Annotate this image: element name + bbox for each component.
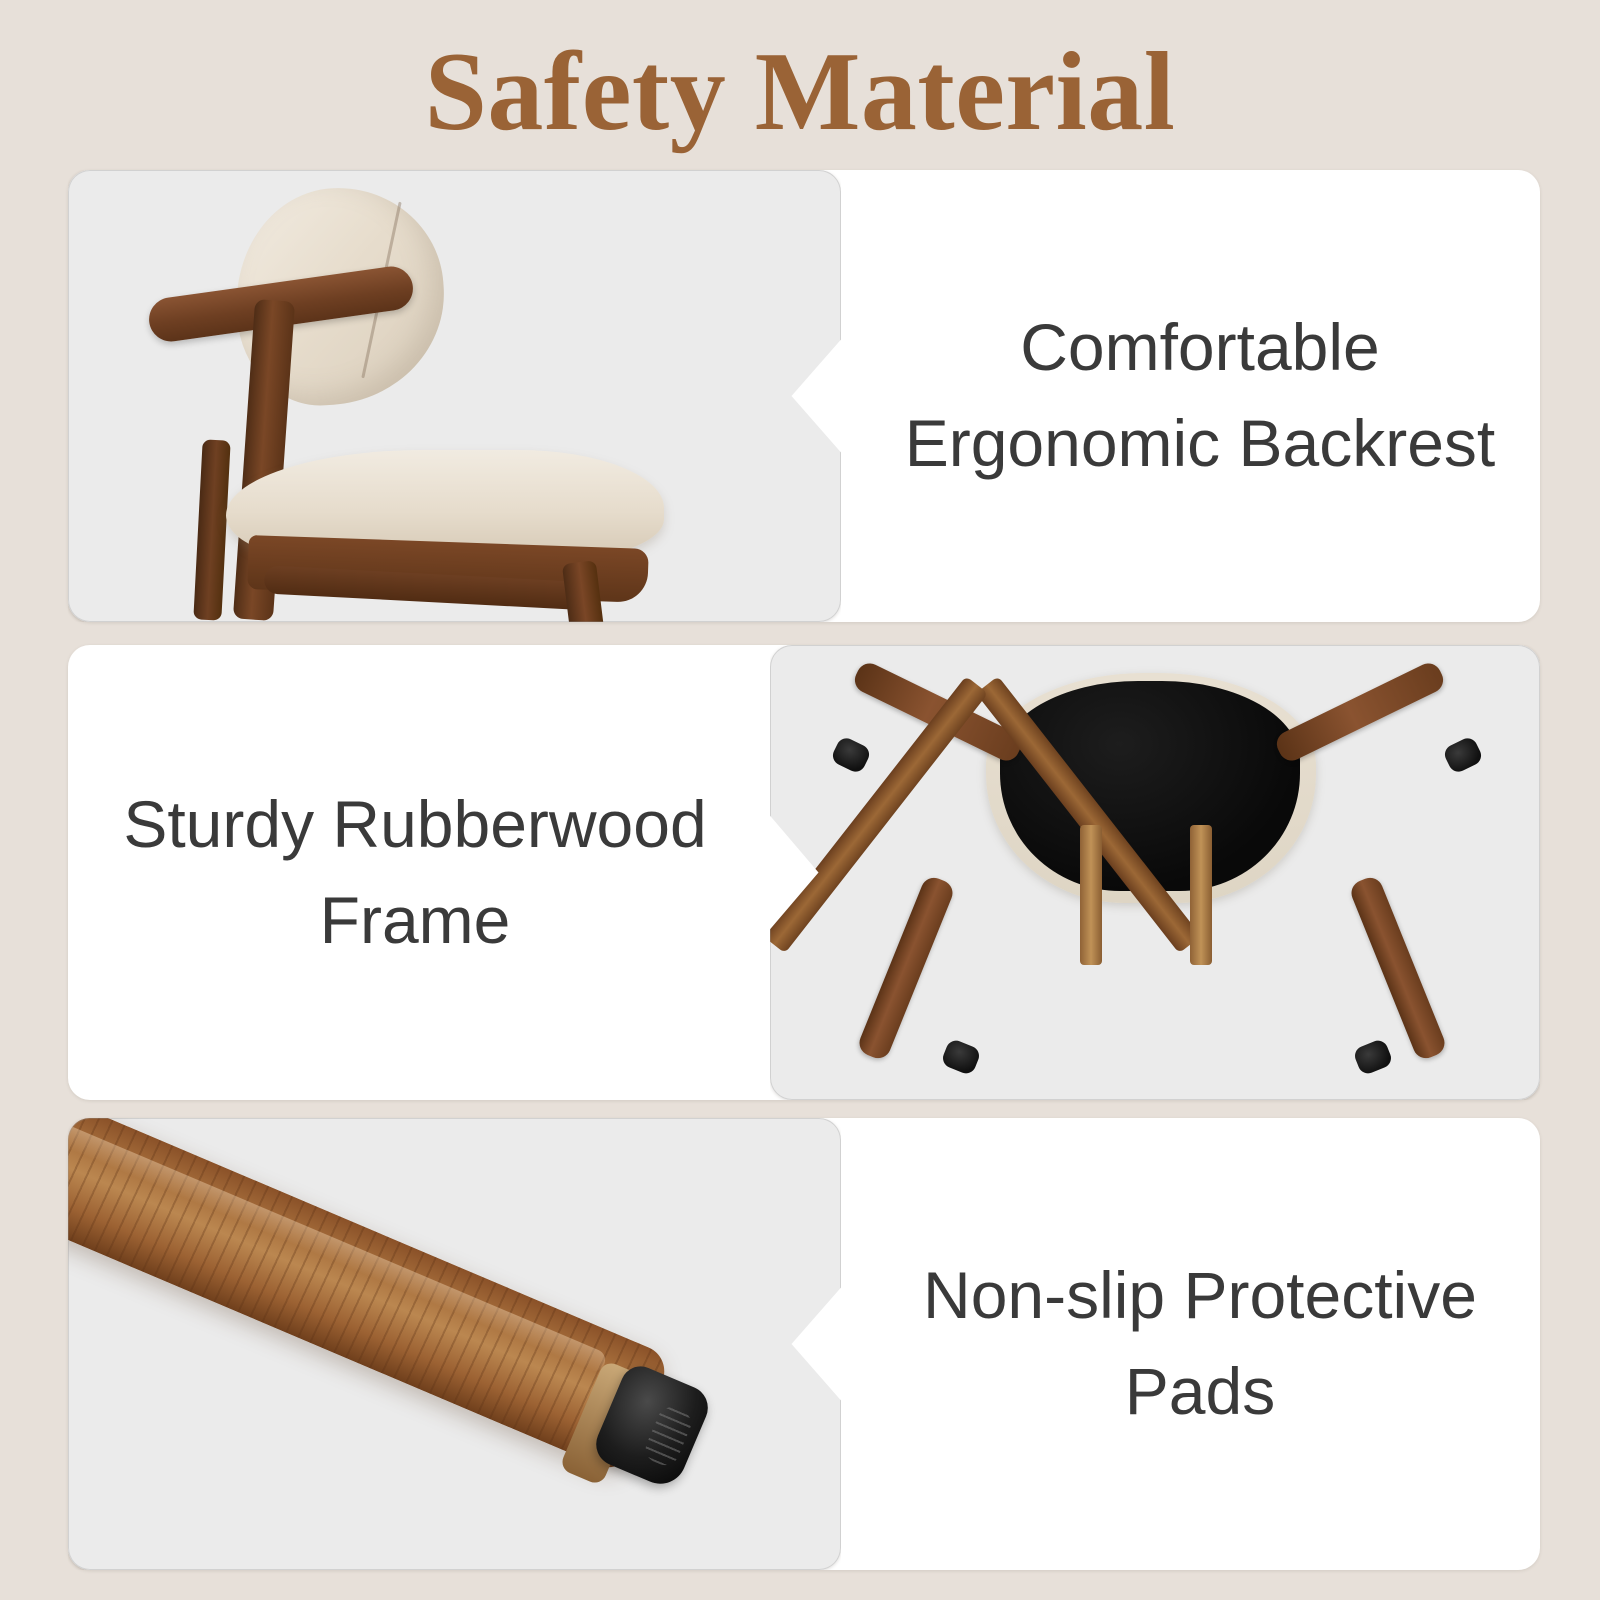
chair-leg-highlight (68, 1120, 609, 1375)
chair-underside-illustration (770, 645, 1540, 1100)
image-panel-backrest (68, 170, 841, 622)
non-slip-pad-top-right (1442, 735, 1485, 775)
non-slip-pad-bottom-right (1352, 1038, 1394, 1077)
feature-label-backrest: Comfortable Ergonomic Backrest (860, 170, 1540, 622)
chair-leg-top-right (1273, 659, 1448, 765)
page-title: Safety Material (0, 26, 1600, 158)
image-panel-pads (68, 1118, 841, 1570)
chair-leg-bottom-right (1348, 874, 1449, 1062)
feature-row-frame: Sturdy Rubberwood Frame (0, 645, 1600, 1100)
non-slip-pad-bottom-left (940, 1038, 982, 1077)
image-panel-frame (770, 645, 1540, 1100)
non-slip-pad-top-left (830, 735, 873, 775)
chair-leg-closeup-illustration (68, 1118, 841, 1570)
feature-label-frame: Sturdy Rubberwood Frame (70, 645, 760, 1100)
chair-underside-black-panel (1000, 681, 1300, 891)
chair-leg-bottom-left (856, 874, 957, 1062)
chair-rear-leg-second (193, 439, 230, 620)
feature-row-pads: Non-slip Protective Pads (0, 1118, 1600, 1570)
feature-row-backrest: Comfortable Ergonomic Backrest (0, 170, 1600, 622)
feature-label-pads: Non-slip Protective Pads (860, 1118, 1540, 1570)
chair-x-brace-rung-left (1080, 825, 1102, 965)
chair-x-brace-arm-b (770, 676, 988, 953)
non-slip-pad-grip-rings (641, 1403, 695, 1470)
chair-side-view-illustration (68, 170, 841, 622)
chair-x-brace-rung-right (1190, 825, 1212, 965)
